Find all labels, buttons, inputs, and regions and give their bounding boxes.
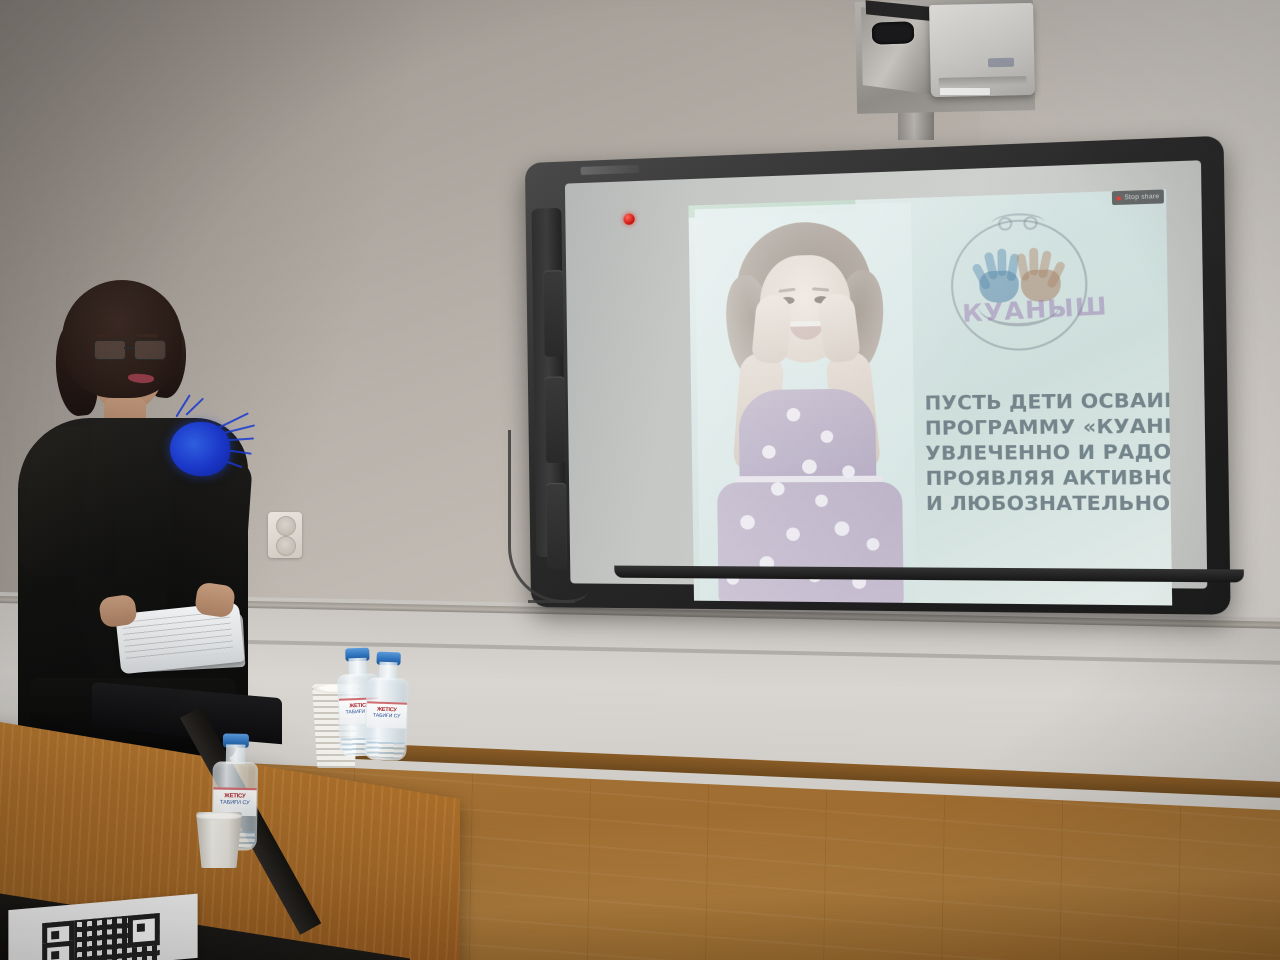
presenter bbox=[0, 278, 280, 748]
bottle-subtitle: ТАБИҒИ СУ bbox=[213, 799, 256, 806]
slide-headline: ПУСТЬ ДЕТИ ОСВАИВАЮТ ПРОГРАММУ «КУАНЫЧ» … bbox=[924, 389, 1167, 518]
projector-label bbox=[940, 88, 990, 95]
bottle-subtitle: ТАБИҒИ СУ bbox=[367, 712, 407, 719]
presenter-hair bbox=[62, 280, 182, 398]
projector-lens-icon bbox=[872, 21, 915, 44]
stop-share-label: Stop share bbox=[1124, 193, 1159, 201]
whiteboard-surface[interactable]: КУАНЫШ ПУСТЬ ДЕТИ ОСВАИВАЮТ ПРОГРАММУ «К… bbox=[565, 160, 1207, 588]
slide-headline-line-2: ПРОГРАММУ «КУАНЫЧ» bbox=[925, 415, 1167, 443]
bottle-label: ЖЕТІСУ ТАБИҒИ СУ bbox=[366, 701, 407, 728]
girl-hand-left bbox=[751, 294, 793, 365]
presenter-hand-right bbox=[194, 582, 236, 619]
whiteboard-cable-run bbox=[528, 574, 588, 603]
program-logo: КУАНЫШ bbox=[950, 218, 1088, 352]
whiteboard-side-button-1[interactable] bbox=[543, 270, 564, 357]
qr-code-icon bbox=[42, 913, 160, 960]
paper-cup-on-table[interactable] bbox=[196, 812, 242, 868]
slide-headline-line-4: ПРОЯВЛЯЯ АКТИВНОСТЬ bbox=[926, 466, 1168, 492]
slide-headline-line-3: УВЛЕЧЕННО И РАДОСТНО, bbox=[925, 440, 1167, 467]
eyeglasses-icon bbox=[94, 340, 168, 358]
projector-body bbox=[929, 3, 1035, 97]
projected-slide: КУАНЫШ ПУСТЬ ДЕТИ ОСВАИВАЮТ ПРОГРАММУ «К… bbox=[688, 189, 1172, 605]
water-bottle-front[interactable]: ЖЕТІСУ ТАБИҒИ СУ bbox=[362, 651, 412, 761]
interactive-whiteboard[interactable]: КУАНЫШ ПУСТЬ ДЕТИ ОСВАИВАЮТ ПРОГРАММУ «К… bbox=[525, 136, 1231, 615]
slide-headline-line-5: И ЛЮБОЗНАТЕЛЬНОСТЬ bbox=[926, 492, 1168, 518]
logo-ornament-icon bbox=[991, 213, 1044, 234]
recording-indicator-icon bbox=[1116, 196, 1121, 200]
bottle-label: ЖЕТІСУ ТАБИҒИ СУ bbox=[213, 787, 257, 816]
power-led-icon bbox=[623, 213, 634, 224]
projector-logo-icon bbox=[988, 58, 1014, 67]
classroom-photo-scene: КУАНЫШ ПУСТЬ ДЕТИ ОСВАИВАЮТ ПРОГРАММУ «К… bbox=[0, 0, 1280, 960]
whiteboard-brand-logo bbox=[581, 165, 639, 175]
feather-brooch bbox=[158, 406, 250, 484]
slide-headline-line-1: ПУСТЬ ДЕТИ ОСВАИВАЮТ bbox=[924, 389, 1166, 417]
stop-share-chip[interactable]: Stop share bbox=[1112, 189, 1164, 205]
slide-photo-girl bbox=[695, 202, 917, 603]
